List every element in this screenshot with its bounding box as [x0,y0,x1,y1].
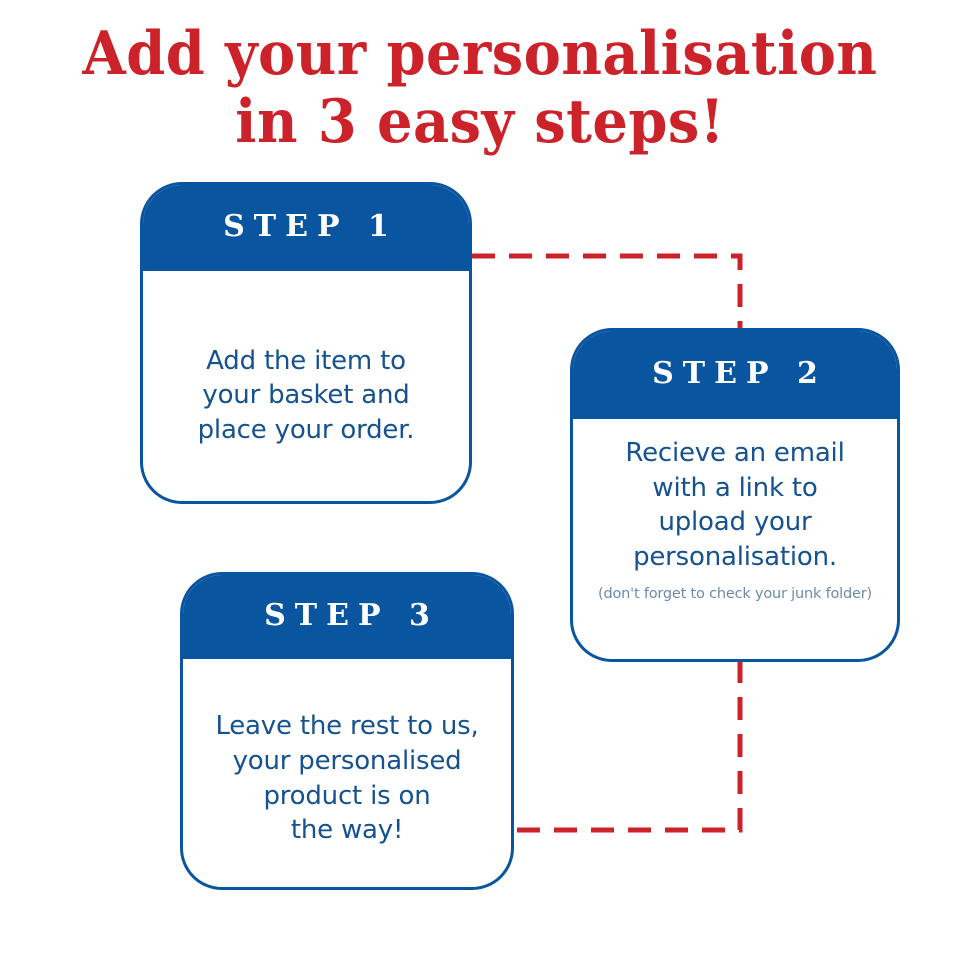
step-3-text-line-1: Leave the rest to us, [215,709,478,744]
step-3-text: Leave the rest to us, your personalised … [215,709,478,847]
step-1-text-line-2: your basket and [198,378,415,413]
infographic-canvas: Add your personalisation in 3 easy steps… [0,0,960,960]
step-2-note: (don't forget to check your junk folder) [598,586,872,603]
step-1-text: Add the item to your basket and place yo… [198,344,415,448]
step-3-text-line-3: product is on [215,779,478,814]
connector-step-2-to-step-3 [516,660,740,830]
step-2-text: Recieve an email with a link to upload y… [625,436,844,574]
step-3-text-line-4: the way! [215,813,478,848]
page-title-line-2: in 3 easy steps! [34,92,927,152]
step-1-text-line-3: place your order. [198,413,415,448]
page-title-line-1: Add your personalisation [34,24,927,92]
step-1-header: STEP 1 [140,182,472,274]
step-2-header: STEP 2 [570,328,900,422]
step-1-body: Add the item to your basket and place yo… [143,274,469,501]
step-3-header: STEP 3 [180,572,514,662]
step-1-text-line-1: Add the item to [198,344,415,379]
step-2-text-line-3: upload your [625,505,844,540]
step-card-3[interactable]: STEP 3 Leave the rest to us, your person… [180,572,514,890]
step-3-text-line-2: your personalised [215,744,478,779]
step-card-2[interactable]: STEP 2 Recieve an email with a link to u… [570,328,900,662]
step-2-text-line-1: Recieve an email [625,436,844,471]
connector-step-1-to-step-2 [472,256,740,330]
step-2-text-line-4: personalisation. [625,540,844,575]
step-3-body: Leave the rest to us, your personalised … [183,662,511,887]
page-title: Add your personalisation in 3 easy steps… [0,24,960,152]
step-2-text-line-2: with a link to [625,471,844,506]
step-2-body: Recieve an email with a link to upload y… [573,422,897,659]
step-card-1[interactable]: STEP 1 Add the item to your basket and p… [140,182,472,504]
